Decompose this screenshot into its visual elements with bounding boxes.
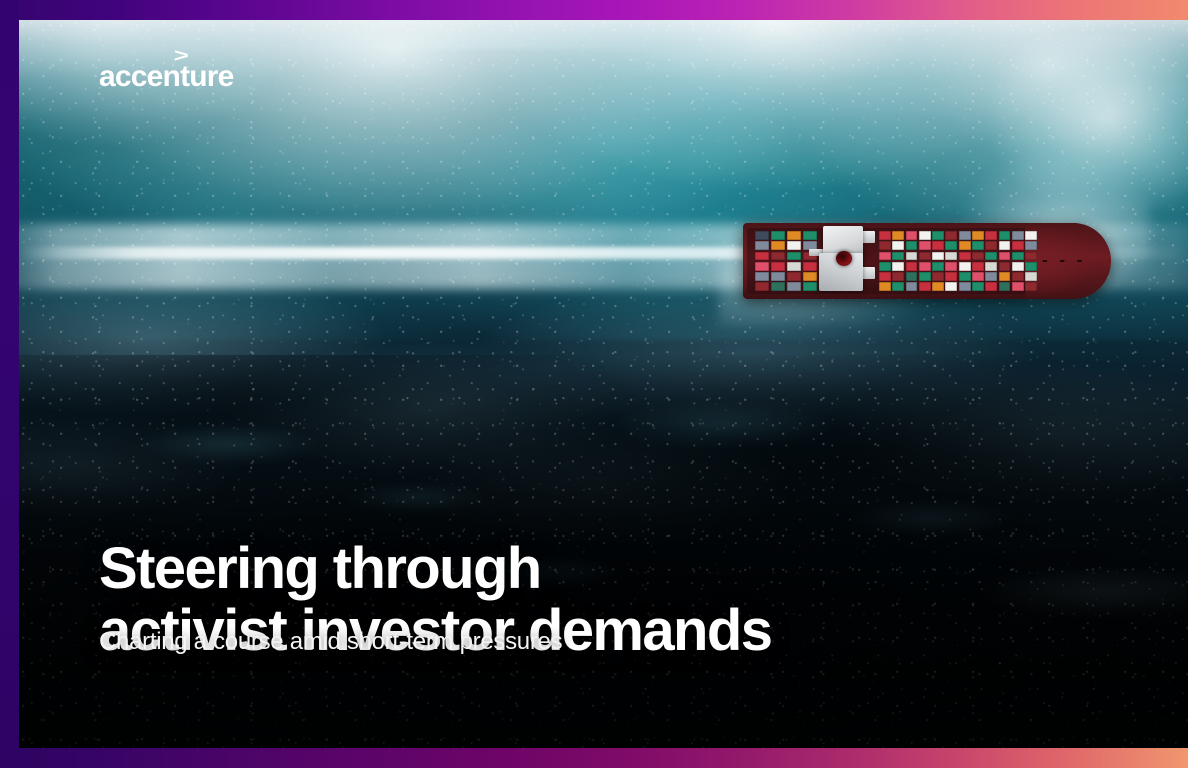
shipping-container (771, 252, 785, 261)
shipping-container (906, 252, 918, 261)
container-bay-aft (755, 231, 817, 291)
shipping-container (906, 262, 918, 271)
shipping-container (879, 272, 891, 281)
container-stack (803, 231, 817, 291)
shipping-container (932, 241, 944, 250)
shipping-container (932, 252, 944, 261)
shipping-container (1012, 231, 1024, 240)
container-stack (892, 231, 904, 291)
container-stack (1012, 231, 1024, 291)
shipping-container (919, 262, 931, 271)
shipping-container (771, 241, 785, 250)
shipping-container (945, 231, 957, 240)
shipping-container (771, 231, 785, 240)
shipping-container (972, 252, 984, 261)
container-stack (959, 231, 971, 291)
shipping-container (892, 241, 904, 250)
shipping-container (892, 272, 904, 281)
shipping-container (771, 282, 785, 291)
shipping-container (787, 231, 801, 240)
container-stack (985, 231, 997, 291)
shipping-container (906, 282, 918, 291)
shipping-container (945, 272, 957, 281)
shipping-container (919, 231, 931, 240)
shipping-container (959, 241, 971, 250)
container-stack (999, 231, 1011, 291)
shipping-container (879, 231, 891, 240)
shipping-container (972, 231, 984, 240)
shipping-container (906, 231, 918, 240)
shipping-container (755, 241, 769, 250)
container-stack (879, 231, 891, 291)
shipping-container (919, 252, 931, 261)
shipping-container (755, 282, 769, 291)
container-stack (972, 231, 984, 291)
shipping-container (959, 272, 971, 281)
shipping-container (892, 231, 904, 240)
shipping-container (1012, 272, 1024, 281)
shipping-container (787, 241, 801, 250)
shipping-container (1025, 282, 1037, 291)
shipping-container (1012, 241, 1024, 250)
ship-funnel (836, 251, 852, 266)
shipping-container (945, 262, 957, 271)
shipping-container (932, 262, 944, 271)
shipping-container (906, 272, 918, 281)
shipping-container (999, 231, 1011, 240)
shipping-container (985, 252, 997, 261)
shipping-container (985, 231, 997, 240)
container-stack (906, 231, 918, 291)
shipping-container (755, 252, 769, 261)
shipping-container (892, 252, 904, 261)
accenture-logo[interactable]: > accenture (99, 62, 234, 92)
shipping-container (985, 282, 997, 291)
shipping-container (999, 272, 1011, 281)
shipping-container (803, 282, 817, 291)
shipping-container (787, 282, 801, 291)
shipping-container (945, 252, 957, 261)
top-gradient-bar (0, 0, 1188, 20)
shipping-container (787, 272, 801, 281)
shipping-container (972, 272, 984, 281)
bottom-gradient-bar (0, 748, 1188, 768)
shipping-container (879, 262, 891, 271)
shipping-container (1025, 272, 1037, 281)
shipping-container (892, 262, 904, 271)
shipping-container (999, 252, 1011, 261)
shipping-container (932, 272, 944, 281)
shipping-container (959, 231, 971, 240)
container-stack (787, 231, 801, 291)
shipping-container (972, 241, 984, 250)
shipping-container (879, 252, 891, 261)
shipping-container (906, 241, 918, 250)
left-purple-bar (0, 0, 19, 768)
shipping-container (999, 282, 1011, 291)
shipping-container (1012, 282, 1024, 291)
accenture-greater-than-logo: > (174, 47, 189, 65)
container-stack (932, 231, 944, 291)
shipping-container (945, 241, 957, 250)
shipping-container (771, 262, 785, 271)
shipping-container (755, 262, 769, 271)
shipping-container (985, 262, 997, 271)
shipping-container (803, 272, 817, 281)
shipping-container (999, 241, 1011, 250)
shipping-container (919, 241, 931, 250)
ship-superstructure (817, 223, 875, 299)
container-stack (945, 231, 957, 291)
container-stack (755, 231, 769, 291)
shipping-container (985, 241, 997, 250)
container-ship (743, 223, 1111, 299)
shipping-container (1012, 262, 1024, 271)
container-stack (919, 231, 931, 291)
report-cover-slide: > accenture Steering through activist in… (0, 0, 1188, 768)
shipping-container (999, 262, 1011, 271)
shipping-container (1025, 252, 1037, 261)
shipping-container (755, 231, 769, 240)
shipping-container (803, 231, 817, 240)
shipping-container (879, 241, 891, 250)
shipping-container (985, 272, 997, 281)
shipping-container (959, 282, 971, 291)
shipping-container (919, 272, 931, 281)
shipping-container (1012, 252, 1024, 261)
shipping-container (1025, 241, 1037, 250)
shipping-container (972, 282, 984, 291)
container-bay-fore (879, 231, 1037, 291)
page-subtitle: Charting a course amid short-term pressu… (99, 628, 562, 656)
accenture-wordmark: accenture (99, 60, 234, 93)
ship-bow-hatch-marks (1039, 260, 1097, 262)
shipping-container (1025, 262, 1037, 271)
page-title-line-1: Steering through (99, 538, 771, 601)
shipping-container (1025, 231, 1037, 240)
container-stack (771, 231, 785, 291)
shipping-container (972, 262, 984, 271)
shipping-container (755, 272, 769, 281)
shipping-container (919, 282, 931, 291)
shipping-container (787, 252, 801, 261)
shipping-container (959, 262, 971, 271)
shipping-container (932, 231, 944, 240)
shipping-container (945, 282, 957, 291)
shipping-container (959, 252, 971, 261)
shipping-container (892, 282, 904, 291)
shipping-container (803, 262, 817, 271)
shipping-container (771, 272, 785, 281)
container-stack (1025, 231, 1037, 291)
ship-hull (743, 223, 1111, 299)
shipping-container (787, 262, 801, 271)
shipping-container (932, 282, 944, 291)
ship-bow (1025, 223, 1111, 299)
shipping-container (879, 282, 891, 291)
